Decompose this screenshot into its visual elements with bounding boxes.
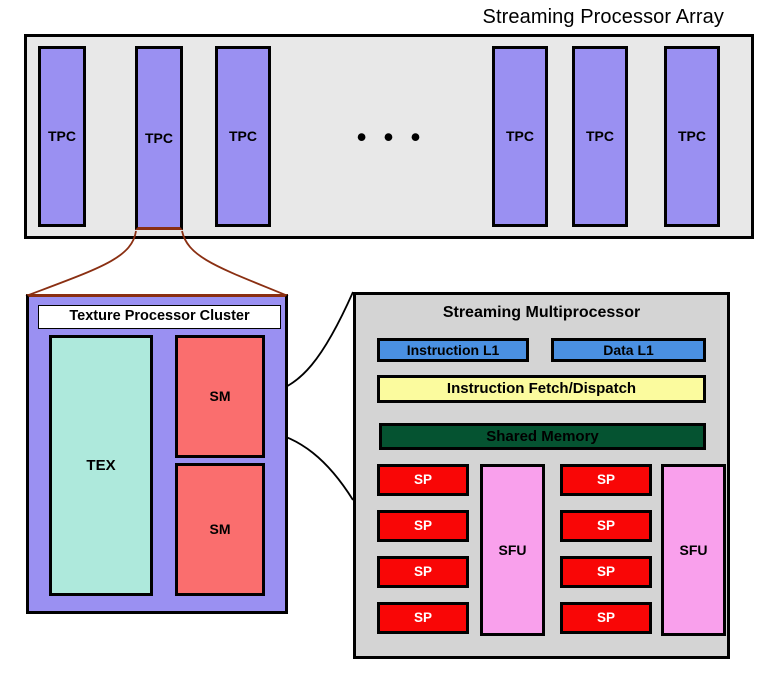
texture-processor-cluster-title: Texture Processor Cluster [38, 305, 281, 329]
sp-unit[interactable]: SP [377, 510, 469, 542]
sfu-label: SFU [680, 543, 708, 558]
ellipsis-indicator: • • • [345, 120, 437, 154]
sfu-unit-1[interactable]: SFU [480, 464, 545, 636]
tpc-block-2[interactable]: TPC [135, 46, 183, 230]
data-l1-cache[interactable]: Data L1 [551, 338, 706, 362]
tpc-label: TPC [678, 129, 706, 144]
sp-unit[interactable]: SP [377, 602, 469, 634]
tpc-label: TPC [586, 129, 614, 144]
streaming-multiprocessor-title: Streaming Multiprocessor [361, 301, 722, 325]
tpc-block-4[interactable]: TPC [492, 46, 548, 227]
page-title: Streaming Processor Array [404, 4, 724, 30]
tpc-block-6[interactable]: TPC [664, 46, 720, 227]
instruction-fetch-dispatch-label: Instruction Fetch/Dispatch [447, 381, 636, 397]
tex-unit[interactable]: TEX [49, 335, 153, 596]
sm-block-2[interactable]: SM [175, 463, 265, 596]
sm-label: SM [210, 522, 231, 537]
sp-label: SP [414, 611, 432, 625]
sp-label: SP [414, 519, 432, 533]
sp-label: SP [414, 473, 432, 487]
tpc-label: TPC [48, 129, 76, 144]
tpc-label: TPC [506, 129, 534, 144]
shared-memory[interactable]: Shared Memory [379, 423, 706, 450]
sp-unit[interactable]: SP [560, 510, 652, 542]
sp-label: SP [414, 565, 432, 579]
tpc-connector-right [182, 231, 288, 296]
tpc-label: TPC [229, 129, 257, 144]
sp-unit[interactable]: SP [377, 464, 469, 496]
sp-label: SP [597, 611, 615, 625]
sm-label: SM [210, 389, 231, 404]
sp-unit[interactable]: SP [560, 556, 652, 588]
tpc-connector-left [26, 231, 136, 296]
sp-unit[interactable]: SP [560, 464, 652, 496]
sp-unit[interactable]: SP [560, 602, 652, 634]
tpc-block-1[interactable]: TPC [38, 46, 86, 227]
shared-memory-label: Shared Memory [486, 429, 599, 445]
instruction-l1-label: Instruction L1 [407, 343, 500, 358]
diagram-canvas: Streaming Processor Array TPC TPC TPC TP… [0, 0, 776, 686]
sp-label: SP [597, 565, 615, 579]
tpc-block-5[interactable]: TPC [572, 46, 628, 227]
instruction-fetch-dispatch[interactable]: Instruction Fetch/Dispatch [377, 375, 706, 403]
tpc-block-3[interactable]: TPC [215, 46, 271, 227]
sfu-label: SFU [499, 543, 527, 558]
sm-block-1[interactable]: SM [175, 335, 265, 458]
data-l1-label: Data L1 [603, 343, 654, 358]
instruction-l1-cache[interactable]: Instruction L1 [377, 338, 529, 362]
sfu-unit-2[interactable]: SFU [661, 464, 726, 636]
tpc-label: TPC [145, 131, 173, 146]
sp-unit[interactable]: SP [377, 556, 469, 588]
sp-label: SP [597, 473, 615, 487]
sp-label: SP [597, 519, 615, 533]
tex-label: TEX [86, 458, 115, 474]
